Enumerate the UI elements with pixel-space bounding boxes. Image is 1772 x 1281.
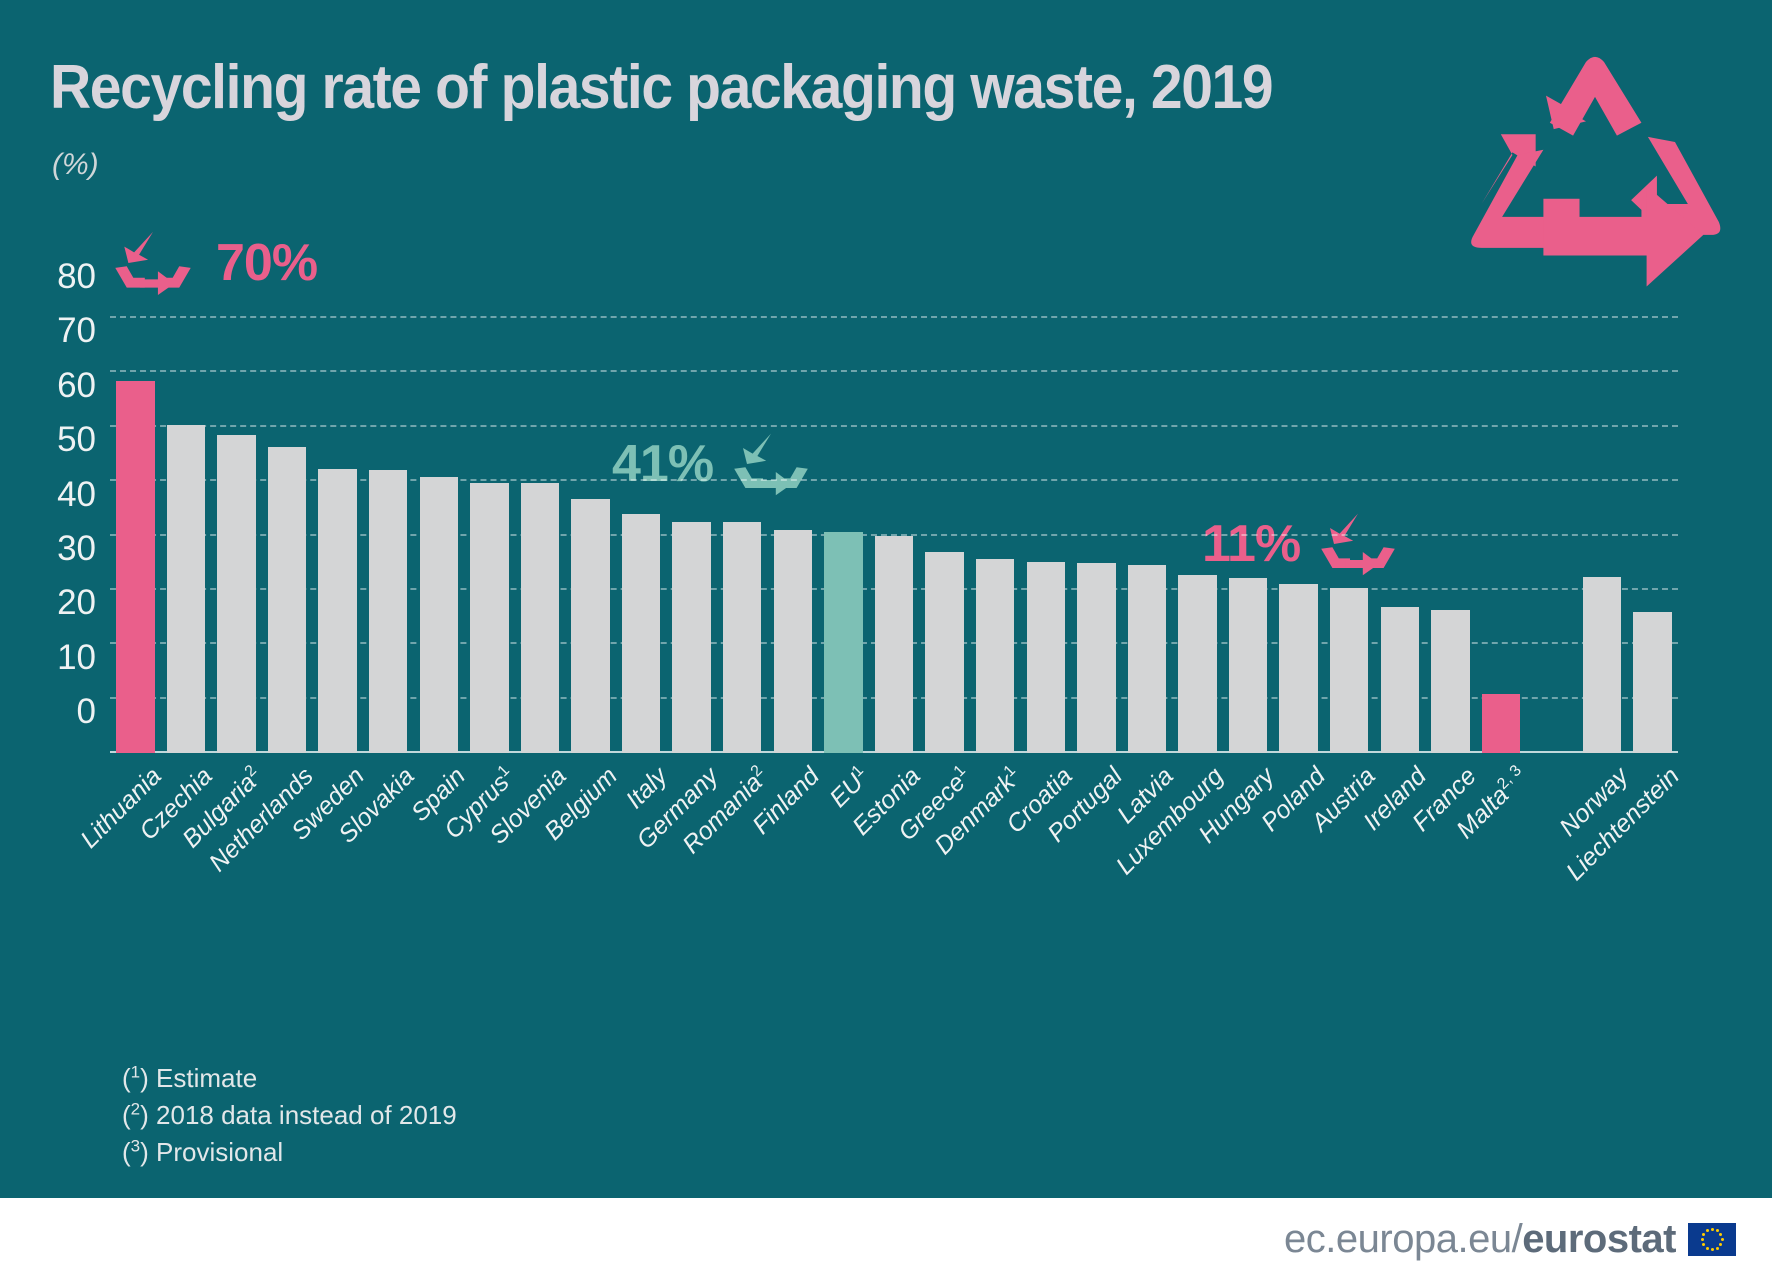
bar-germany[interactable] <box>672 522 710 753</box>
y-axis-tick: 10 <box>57 638 96 678</box>
bar-greece[interactable] <box>925 552 963 753</box>
bar-croatia[interactable] <box>1027 562 1065 753</box>
eu-flag-star <box>1702 1243 1705 1246</box>
brand-url: ec.europa.eu/ <box>1284 1217 1522 1262</box>
recycling-icon <box>112 230 194 296</box>
bar-estonia[interactable] <box>875 536 913 754</box>
recycling-icon <box>1466 48 1724 298</box>
bar-poland[interactable] <box>1279 584 1317 753</box>
y-axis-tick: 60 <box>57 366 96 406</box>
bar-spain[interactable] <box>420 477 458 753</box>
y-axis-tick: 40 <box>57 475 96 515</box>
y-axis-tick: 50 <box>57 420 96 460</box>
unit-label: (%) <box>52 148 99 182</box>
page-title: Recycling rate of plastic packaging wast… <box>50 52 1272 123</box>
bar-latvia[interactable] <box>1128 565 1166 753</box>
eu-flag-star <box>1721 1238 1724 1241</box>
bar-ireland[interactable] <box>1381 607 1419 753</box>
eu-flag-star <box>1701 1238 1704 1241</box>
callout-highest: 70% <box>112 230 317 296</box>
eu-flag-star <box>1719 1233 1722 1236</box>
bar-netherlands[interactable] <box>268 447 306 753</box>
eu-flag-star <box>1702 1233 1705 1236</box>
eurostat-brand[interactable]: ec.europa.eu/eurostat <box>1284 1217 1736 1262</box>
eu-flag-star <box>1706 1229 1709 1232</box>
bar-lithuania[interactable] <box>116 381 154 753</box>
bar-slovakia[interactable] <box>369 470 407 753</box>
y-axis-tick: 80 <box>57 257 96 297</box>
bar-luxembourg[interactable] <box>1178 575 1216 753</box>
bar-malta[interactable] <box>1482 694 1520 753</box>
bar-cyprus[interactable] <box>470 483 508 753</box>
y-axis-tick: 0 <box>77 692 96 732</box>
bar-bulgaria[interactable] <box>217 435 255 753</box>
footer: ec.europa.eu/eurostat <box>0 1198 1772 1281</box>
bar-france[interactable] <box>1431 610 1469 753</box>
bar-denmark[interactable] <box>976 559 1014 753</box>
y-axis-tick: 30 <box>57 529 96 569</box>
eu-flag-icon <box>1688 1223 1736 1256</box>
bar-austria[interactable] <box>1330 588 1368 753</box>
eu-flag-star <box>1719 1243 1722 1246</box>
brand-name: eurostat <box>1522 1217 1676 1262</box>
bar-czechia[interactable] <box>167 425 205 753</box>
bar-slovenia[interactable] <box>521 483 559 753</box>
eu-flag-star <box>1716 1229 1719 1232</box>
bar-finland[interactable] <box>774 530 812 753</box>
bar-portugal[interactable] <box>1077 563 1115 753</box>
footnote: (1) Estimate <box>122 1060 457 1097</box>
eu-flag-star <box>1711 1248 1714 1251</box>
bar-liechtenstein[interactable] <box>1633 612 1671 753</box>
bar-hungary[interactable] <box>1229 578 1267 753</box>
bars-container <box>110 318 1678 753</box>
footnote: (2) 2018 data instead of 2019 <box>122 1097 457 1134</box>
bar-norway[interactable] <box>1583 577 1621 753</box>
eu-flag-star <box>1716 1247 1719 1250</box>
bar-sweden[interactable] <box>318 469 356 753</box>
footnotes: (1) Estimate(2) 2018 data instead of 201… <box>122 1060 457 1171</box>
y-axis-tick: 70 <box>57 312 96 352</box>
bar-italy[interactable] <box>622 514 660 753</box>
callout-value: 70% <box>216 233 317 293</box>
footnote: (3) Provisional <box>122 1134 457 1171</box>
bar-chart: 01020304050607080 LithuaniaCzechiaBulgar… <box>110 318 1678 753</box>
eu-flag-star <box>1711 1228 1714 1231</box>
bar-belgium[interactable] <box>571 499 609 753</box>
bar-romania[interactable] <box>723 522 761 753</box>
y-axis-tick: 20 <box>57 583 96 623</box>
bar-eu[interactable] <box>824 532 862 753</box>
eu-flag-star <box>1706 1247 1709 1250</box>
